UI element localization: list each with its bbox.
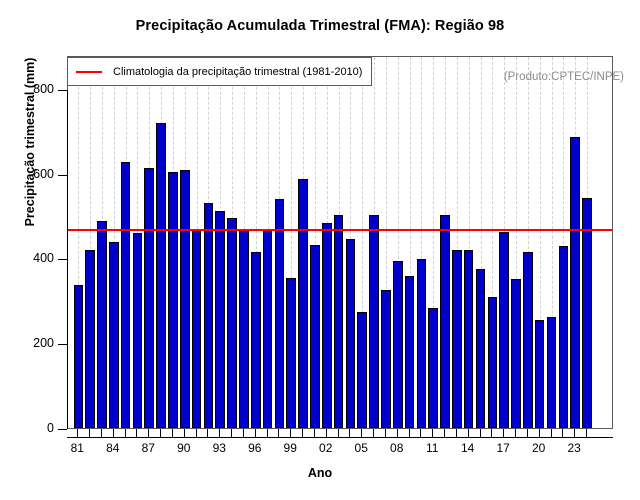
x-tick-label: 02 [306, 441, 346, 455]
bar [511, 279, 521, 428]
x-tick-mark [101, 429, 102, 438]
x-tick-mark [196, 429, 197, 438]
bar [192, 230, 202, 428]
x-tick-mark [539, 429, 540, 438]
bar [109, 242, 119, 428]
attribution-label: (Produto:CPTEC/INPE) [504, 71, 624, 83]
x-tick-mark [148, 429, 149, 438]
x-tick-mark [361, 429, 362, 438]
bar [440, 215, 450, 428]
x-tick-mark [113, 429, 114, 438]
legend-line-swatch-icon [76, 71, 102, 73]
bar [215, 211, 225, 428]
x-tick-mark [551, 429, 552, 438]
y-axis-spine [67, 90, 68, 429]
x-tick-label: 90 [164, 441, 204, 455]
legend: Climatologia da precipitação trimestral … [67, 57, 372, 86]
x-tick-mark [515, 429, 516, 438]
x-tick-mark [444, 429, 445, 438]
x-tick-mark [219, 429, 220, 438]
bar [85, 250, 95, 428]
y-tick-mark [58, 175, 67, 176]
y-tick-mark [58, 259, 67, 260]
bar [275, 199, 285, 428]
x-tick-mark [420, 429, 421, 438]
y-tick-mark [58, 90, 67, 91]
y-tick-mark [58, 344, 67, 345]
bar [428, 308, 438, 428]
bar [547, 317, 557, 428]
bar [464, 250, 474, 428]
y-tick-mark [58, 429, 67, 430]
bar [97, 221, 107, 428]
x-tick-mark [586, 429, 587, 438]
bar [499, 232, 509, 428]
x-tick-mark [527, 429, 528, 438]
bar [322, 223, 332, 428]
x-tick-label: 87 [128, 441, 168, 455]
bar [417, 259, 427, 428]
bar [144, 168, 154, 428]
bar [405, 276, 415, 428]
legend-label: Climatologia da precipitação trimestral … [113, 66, 362, 78]
x-tick-mark [172, 429, 173, 438]
bar [452, 250, 462, 428]
x-tick-label: 17 [483, 441, 523, 455]
x-tick-label: 08 [377, 441, 417, 455]
bars-layer [68, 57, 612, 428]
x-tick-mark [314, 429, 315, 438]
x-tick-mark [231, 429, 232, 438]
x-tick-mark [491, 429, 492, 438]
bar [346, 239, 356, 428]
x-tick-mark [503, 429, 504, 438]
bar [133, 233, 143, 428]
bar [582, 198, 592, 428]
x-tick-mark [125, 429, 126, 438]
x-tick-label: 84 [93, 441, 133, 455]
x-tick-mark [338, 429, 339, 438]
bar [168, 172, 178, 428]
x-tick-mark [184, 429, 185, 438]
bar [204, 203, 214, 428]
bar [286, 278, 296, 428]
bar [369, 215, 379, 428]
x-tick-mark [385, 429, 386, 438]
plot-area [67, 56, 613, 429]
x-tick-mark [243, 429, 244, 438]
x-tick-mark [468, 429, 469, 438]
bar [156, 123, 166, 428]
x-tick-mark [89, 429, 90, 438]
x-tick-mark [456, 429, 457, 438]
x-tick-label: 23 [554, 441, 594, 455]
x-tick-mark [278, 429, 279, 438]
x-tick-label: 20 [519, 441, 559, 455]
x-tick-label: 96 [235, 441, 275, 455]
x-tick-mark [574, 429, 575, 438]
bar [298, 179, 308, 428]
x-axis-title: Ano [0, 466, 640, 480]
precipitation-bar-chart: Precipitação Acumulada Trimestral (FMA):… [0, 0, 640, 500]
x-tick-mark [290, 429, 291, 438]
bar [239, 230, 249, 428]
x-tick-mark [267, 429, 268, 438]
bar [559, 246, 569, 428]
x-tick-mark [480, 429, 481, 438]
x-tick-mark [302, 429, 303, 438]
x-tick-label: 11 [412, 441, 452, 455]
bar [251, 252, 261, 428]
x-tick-mark [373, 429, 374, 438]
bar [476, 269, 486, 428]
x-tick-mark [562, 429, 563, 438]
bar [535, 320, 545, 428]
x-tick-label: 99 [270, 441, 310, 455]
bar [393, 261, 403, 428]
bar [180, 170, 190, 428]
bar [334, 215, 344, 428]
y-tick-label: 200 [0, 336, 54, 350]
x-tick-label: 81 [57, 441, 97, 455]
x-tick-mark [77, 429, 78, 438]
x-tick-mark [136, 429, 137, 438]
bar [523, 252, 533, 428]
y-axis-title: Precipitação trimestral (mm) [23, 2, 37, 282]
bar [263, 230, 273, 428]
x-tick-mark [160, 429, 161, 438]
climatology-reference-line [68, 229, 612, 231]
x-tick-mark [349, 429, 350, 438]
bar [310, 245, 320, 428]
chart-title: Precipitação Acumulada Trimestral (FMA):… [0, 18, 640, 34]
bar [570, 137, 580, 428]
bar [227, 218, 237, 428]
x-tick-mark [326, 429, 327, 438]
bar [357, 312, 367, 428]
x-tick-mark [207, 429, 208, 438]
y-tick-label: 0 [0, 421, 54, 435]
bar [488, 297, 498, 428]
x-tick-mark [409, 429, 410, 438]
x-tick-label: 05 [341, 441, 381, 455]
x-tick-mark [255, 429, 256, 438]
x-tick-mark [397, 429, 398, 438]
bar [381, 290, 391, 428]
bar [74, 285, 84, 428]
x-tick-label: 14 [448, 441, 488, 455]
bar [121, 162, 131, 428]
x-tick-mark [432, 429, 433, 438]
x-tick-label: 93 [199, 441, 239, 455]
